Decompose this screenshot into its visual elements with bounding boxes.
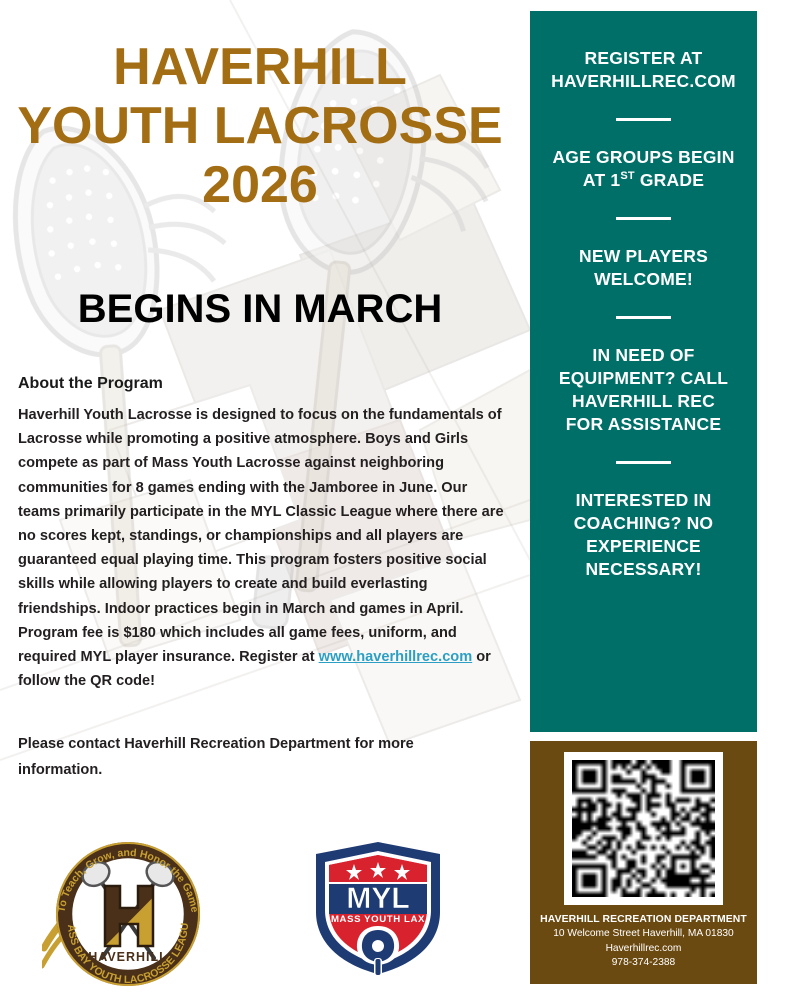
- about-section: About the Program Haverhill Youth Lacros…: [18, 372, 504, 693]
- myl-primary-text: MYL: [346, 882, 409, 915]
- registration-link[interactable]: www.haverhillrec.com: [319, 649, 473, 665]
- sidebar-equip-line3: HAVERHILL REC: [544, 390, 743, 413]
- department-address: 10 Welcome Street Haverhill, MA 01830: [536, 927, 751, 942]
- about-body-text-1: Haverhill Youth Lacrosse is designed to …: [18, 407, 504, 665]
- sidebar-divider-2: [616, 217, 671, 220]
- sidebar-block-equipment: IN NEED OF EQUIPMENT? CALL HAVERHILL REC…: [544, 344, 743, 436]
- myl-shield-logo: MYL MASS YOUTH LAX: [310, 838, 446, 978]
- sidebar-age-line1: AGE GROUPS BEGIN: [544, 146, 743, 169]
- title-line-2: YOUTH LACROSSE: [0, 97, 520, 156]
- sidebar-new-line2: WELCOME!: [544, 268, 743, 291]
- sidebar-divider-4: [616, 461, 671, 464]
- sidebar-block-coaching: INTERESTED IN COACHING? NO EXPERIENCE NE…: [544, 489, 743, 581]
- sidebar-block-age-groups: AGE GROUPS BEGIN AT 1ST GRADE: [544, 146, 743, 192]
- sidebar-block-new-players: NEW PLAYERS WELCOME!: [544, 245, 743, 291]
- sidebar-block-register: REGISTER AT HAVERHILLREC.COM: [544, 47, 743, 93]
- contact-note: Please contact Haverhill Recreation Depa…: [18, 731, 488, 783]
- lacrosse-flyer: HAVERHILL YOUTH LACROSSE 2026 BEGINS IN …: [0, 0, 791, 1005]
- sidebar-age-post: GRADE: [635, 170, 704, 190]
- sidebar-divider-3: [616, 316, 671, 319]
- flyer-title: HAVERHILL YOUTH LACROSSE 2026: [0, 38, 520, 215]
- sidebar-equip-line4: FOR ASSISTANCE: [544, 413, 743, 436]
- about-heading: About the Program: [18, 372, 504, 396]
- main-content-column: HAVERHILL YOUTH LACROSSE 2026 BEGINS IN …: [0, 0, 530, 1005]
- sidebar-coach-line2: COACHING? NO: [544, 512, 743, 535]
- haverhill-logo-svg: HAVERHILL To Teach, Grow, and Honor the …: [42, 828, 214, 1000]
- title-line-1: HAVERHILL: [0, 38, 520, 97]
- sidebar-register-line2: HAVERHILLREC.COM: [544, 70, 743, 93]
- sidebar-divider-1: [616, 118, 671, 121]
- about-body: Haverhill Youth Lacrosse is designed to …: [18, 403, 504, 693]
- sidebar-coach-line3: EXPERIENCE: [544, 535, 743, 558]
- qr-contact-panel: HAVERHILL RECREATION DEPARTMENT 10 Welco…: [530, 741, 757, 984]
- myl-secondary-text: MASS YOUTH LAX: [331, 914, 425, 925]
- teal-highlights-panel: REGISTER AT HAVERHILLREC.COM AGE GROUPS …: [530, 11, 757, 732]
- sidebar-coach-line1: INTERESTED IN: [544, 489, 743, 512]
- sidebar-coach-line4: NECESSARY!: [544, 558, 743, 581]
- haverhill-mass-bay-logo: HAVERHILL To Teach, Grow, and Honor the …: [42, 828, 214, 1000]
- logo-town-label: HAVERHILL: [88, 950, 168, 964]
- sidebar-register-line1: REGISTER AT: [544, 47, 743, 70]
- sidebar-new-line1: NEW PLAYERS: [544, 245, 743, 268]
- flyer-subtitle: BEGINS IN MARCH: [0, 285, 520, 333]
- sidebar-age-sup: ST: [620, 170, 634, 182]
- sidebar-equip-line1: IN NEED OF: [544, 344, 743, 367]
- sidebar-equip-line2: EQUIPMENT? CALL: [544, 367, 743, 390]
- myl-logo-svg: MYL MASS YOUTH LAX: [310, 838, 446, 978]
- qr-code-container[interactable]: [564, 752, 723, 905]
- qr-code-icon[interactable]: [572, 760, 715, 897]
- department-footer: HAVERHILL RECREATION DEPARTMENT 10 Welco…: [536, 912, 751, 971]
- department-website: Haverhillrec.com: [536, 942, 751, 957]
- sidebar-age-line2: AT 1ST GRADE: [544, 169, 743, 192]
- department-name: HAVERHILL RECREATION DEPARTMENT: [536, 912, 751, 927]
- title-line-3: 2026: [0, 156, 520, 215]
- sidebar-age-pre: AT 1: [583, 170, 620, 190]
- department-phone: 978-374-2388: [536, 956, 751, 971]
